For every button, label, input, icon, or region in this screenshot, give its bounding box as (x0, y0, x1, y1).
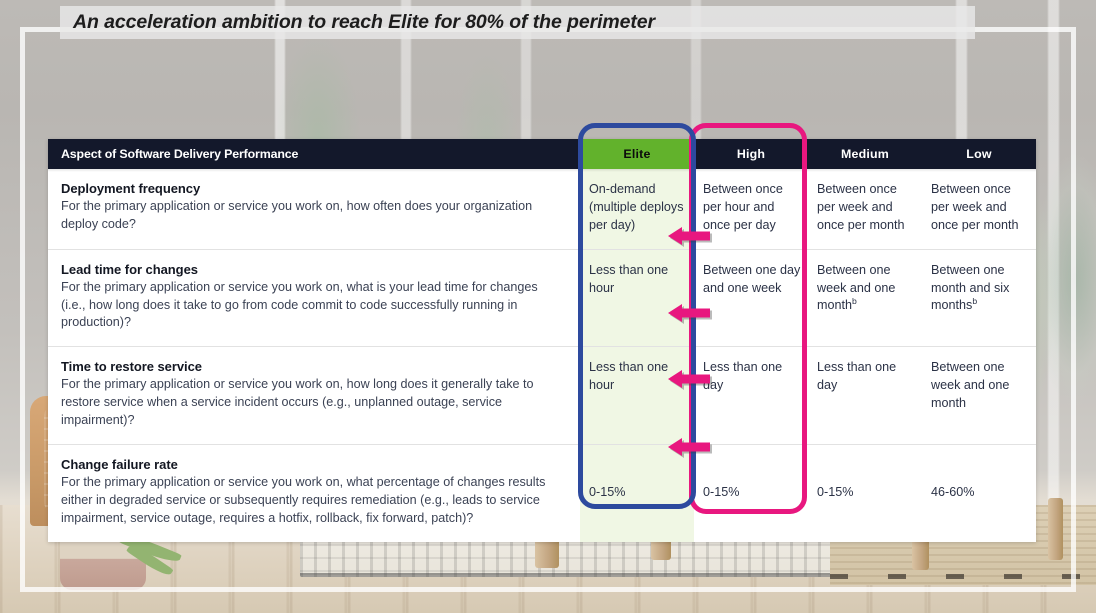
cell-text: Between once per week and once per month (817, 182, 905, 232)
column-header-elite: Elite (580, 139, 694, 169)
metric-description: For the primary application or service y… (61, 198, 564, 234)
metric-description: For the primary application or service y… (61, 474, 564, 528)
cell-medium: Less than one day (808, 347, 922, 445)
cell-text: 0-15% (817, 485, 853, 499)
dora-metrics-table: Aspect of Software Delivery Performance … (48, 139, 1036, 542)
column-header-low: Low (922, 139, 1036, 169)
page-title: An acceleration ambition to reach Elite … (60, 11, 655, 34)
cell-low: Between one week and one month (922, 347, 1036, 445)
cell-text: Less than one hour (589, 263, 668, 295)
cell-high: Between once per hour and once per day (694, 169, 808, 249)
column-header-aspect: Aspect of Software Delivery Performance (48, 139, 580, 169)
column-header-medium: Medium (808, 139, 922, 169)
table-header-row: Aspect of Software Delivery Performance … (48, 139, 1036, 169)
table-row: Change failure rate For the primary appl… (48, 444, 1036, 541)
table-row: Time to restore service For the primary … (48, 347, 1036, 445)
cell-text: Between once per hour and once per day (703, 182, 783, 232)
cell-text: 46-60% (931, 485, 974, 499)
cell-elite: 0-15% (580, 444, 694, 541)
cell-elite: Less than one hour (580, 347, 694, 445)
metric-cell: Deployment frequency For the primary app… (48, 169, 580, 249)
metric-description: For the primary application or service y… (61, 279, 564, 333)
cell-elite: Less than one hour (580, 249, 694, 347)
cell-high: 0-15% (694, 444, 808, 541)
metric-cell: Lead time for changes For the primary ap… (48, 249, 580, 347)
cell-medium: 0-15% (808, 444, 922, 541)
metric-cell: Change failure rate For the primary appl… (48, 444, 580, 541)
cell-text: Between one month and six months (931, 263, 1009, 313)
cell-medium: Between one week and one monthb (808, 249, 922, 347)
cell-text: 0-15% (589, 485, 625, 499)
cell-text: Between one week and one month (931, 360, 1009, 410)
cell-text: Less than one day (817, 360, 896, 392)
title-banner: An acceleration ambition to reach Elite … (60, 6, 975, 39)
footnote-marker: b (852, 296, 857, 306)
cell-low: Between one month and six monthsb (922, 249, 1036, 347)
metric-cell: Time to restore service For the primary … (48, 347, 580, 445)
cell-text: Less than one hour (589, 360, 668, 392)
table-row: Lead time for changes For the primary ap… (48, 249, 1036, 347)
column-header-high: High (694, 139, 808, 169)
cell-text: Between once per week and once per month (931, 182, 1019, 232)
cell-low: 46-60% (922, 444, 1036, 541)
cell-text: On-demand (multiple deploys per day) (589, 182, 684, 232)
cell-high: Between one day and one week (694, 249, 808, 347)
metric-title: Deployment frequency (61, 181, 564, 196)
cell-high: Less than one day (694, 347, 808, 445)
metric-title: Time to restore service (61, 359, 564, 374)
cell-text: Between one day and one week (703, 263, 800, 295)
cell-text: Less than one day (703, 360, 782, 392)
table-row: Deployment frequency For the primary app… (48, 169, 1036, 249)
cell-elite: On-demand (multiple deploys per day) (580, 169, 694, 249)
slide-canvas: An acceleration ambition to reach Elite … (0, 0, 1096, 613)
cell-low: Between once per week and once per month (922, 169, 1036, 249)
metric-title: Lead time for changes (61, 262, 564, 277)
footnote-marker: b (972, 296, 977, 306)
cell-medium: Between once per week and once per month (808, 169, 922, 249)
metric-description: For the primary application or service y… (61, 376, 564, 430)
cell-text: 0-15% (703, 485, 739, 499)
background-table-leg-far2 (1048, 498, 1063, 560)
metric-title: Change failure rate (61, 457, 564, 472)
